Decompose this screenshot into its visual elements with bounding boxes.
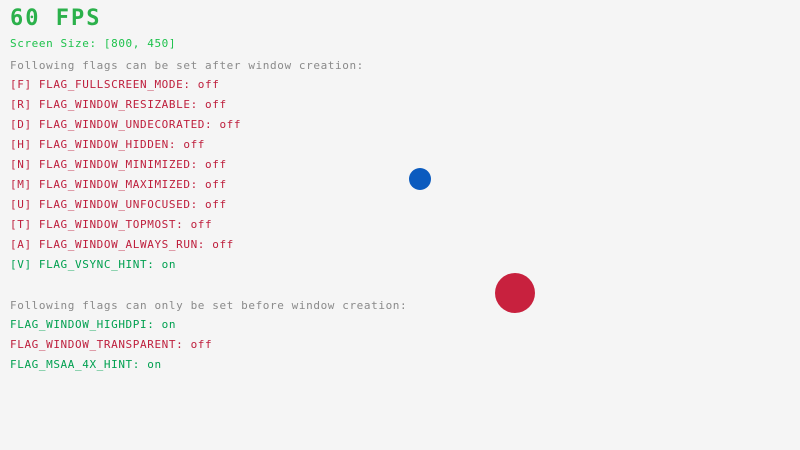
flag-toggle-flag-window-resizable[interactable]: [R] FLAG_WINDOW_RESIZABLE: off bbox=[10, 98, 227, 111]
red-circle bbox=[495, 273, 535, 313]
fps-counter: 60 FPS bbox=[10, 6, 101, 31]
blue-circle bbox=[409, 168, 431, 190]
app-window: 60 FPS Screen Size: [800, 450] Following… bbox=[0, 0, 800, 450]
flag-toggle-flag-window-always-run[interactable]: [A] FLAG_WINDOW_ALWAYS_RUN: off bbox=[10, 238, 234, 251]
after-creation-header: Following flags can be set after window … bbox=[10, 59, 364, 72]
screen-size-label: Screen Size: [800, 450] bbox=[10, 37, 176, 50]
flag-static-flag-window-highdpi[interactable]: FLAG_WINDOW_HIGHDPI: on bbox=[10, 318, 176, 331]
flag-toggle-flag-window-undecorated[interactable]: [D] FLAG_WINDOW_UNDECORATED: off bbox=[10, 118, 241, 131]
flag-toggle-flag-window-maximized[interactable]: [M] FLAG_WINDOW_MAXIMIZED: off bbox=[10, 178, 227, 191]
flag-toggle-flag-window-unfocused[interactable]: [U] FLAG_WINDOW_UNFOCUSED: off bbox=[10, 198, 227, 211]
flag-toggle-flag-window-hidden[interactable]: [H] FLAG_WINDOW_HIDDEN: off bbox=[10, 138, 205, 151]
flag-toggle-flag-window-minimized[interactable]: [N] FLAG_WINDOW_MINIMIZED: off bbox=[10, 158, 227, 171]
before-creation-header: Following flags can only be set before w… bbox=[10, 299, 407, 312]
flag-toggle-flag-fullscreen-mode[interactable]: [F] FLAG_FULLSCREEN_MODE: off bbox=[10, 78, 219, 91]
flag-static-flag-window-transparent[interactable]: FLAG_WINDOW_TRANSPARENT: off bbox=[10, 338, 212, 351]
flag-toggle-flag-window-topmost[interactable]: [T] FLAG_WINDOW_TOPMOST: off bbox=[10, 218, 212, 231]
flag-toggle-flag-vsync-hint[interactable]: [V] FLAG_VSYNC_HINT: on bbox=[10, 258, 176, 271]
flag-static-flag-msaa-4x-hint[interactable]: FLAG_MSAA_4X_HINT: on bbox=[10, 358, 162, 371]
